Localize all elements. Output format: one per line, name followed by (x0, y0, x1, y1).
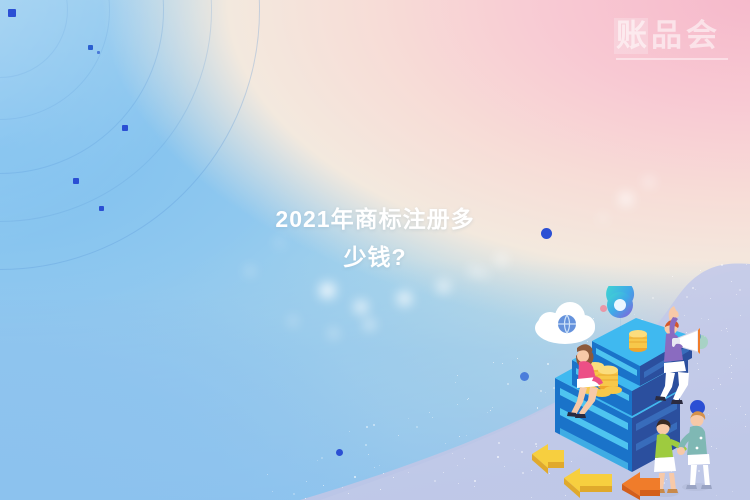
star-speck (487, 412, 488, 413)
star-speck (368, 454, 369, 455)
arc-dot (122, 125, 128, 131)
star-speck (507, 383, 509, 385)
watermark-highlight-box (614, 18, 648, 54)
hero-illustration (520, 286, 750, 500)
bokeh-light (320, 283, 335, 298)
star-speck (458, 483, 459, 484)
star-speck (457, 404, 458, 405)
star-speck (468, 398, 469, 399)
bokeh-light (290, 318, 296, 324)
cloud-with-globe-icon (535, 302, 595, 344)
star-speck (493, 362, 494, 363)
headline-line-2: 少钱? (0, 238, 750, 276)
star-speck (374, 467, 375, 468)
star-speck (466, 435, 467, 436)
decor-dot (336, 449, 343, 456)
bokeh-light (398, 292, 411, 305)
star-speck (305, 498, 306, 499)
arc-dot (88, 45, 93, 50)
bokeh-light (355, 301, 367, 313)
bokeh-light (330, 330, 337, 337)
star-speck (492, 407, 493, 408)
star-speck (306, 481, 307, 482)
headline-line-1: 2021年商标注册多 (0, 200, 750, 238)
star-speck (342, 487, 343, 488)
star-speck (464, 458, 465, 459)
star-speck (497, 456, 499, 458)
orange-arrow (622, 472, 660, 500)
star-speck (452, 453, 453, 454)
arc-dot (73, 178, 79, 184)
watermark: 账品会 (616, 16, 721, 56)
arc-dot (8, 9, 16, 17)
bokeh-light (438, 281, 449, 292)
star-speck (349, 431, 350, 432)
handshake-pair-figure (651, 411, 712, 497)
star-speck (272, 491, 273, 492)
arc-dot (97, 51, 100, 54)
star-speck (504, 466, 505, 467)
bokeh-light (365, 320, 374, 329)
star-speck (498, 442, 500, 444)
star-speck (366, 426, 368, 428)
star-speck (502, 363, 503, 364)
star-speck (416, 426, 418, 428)
banner-canvas: 2021年商标注册多 少钱? 账品会 (0, 0, 750, 500)
bokeh-light (645, 178, 653, 186)
star-speck (459, 436, 460, 437)
page-title: 2021年商标注册多 少钱? (0, 200, 750, 276)
star-speck (490, 410, 491, 411)
star-speck (445, 443, 446, 444)
star-speck (474, 480, 476, 482)
star-speck (408, 472, 409, 473)
star-speck (354, 476, 356, 478)
watermark-underline (616, 58, 728, 60)
